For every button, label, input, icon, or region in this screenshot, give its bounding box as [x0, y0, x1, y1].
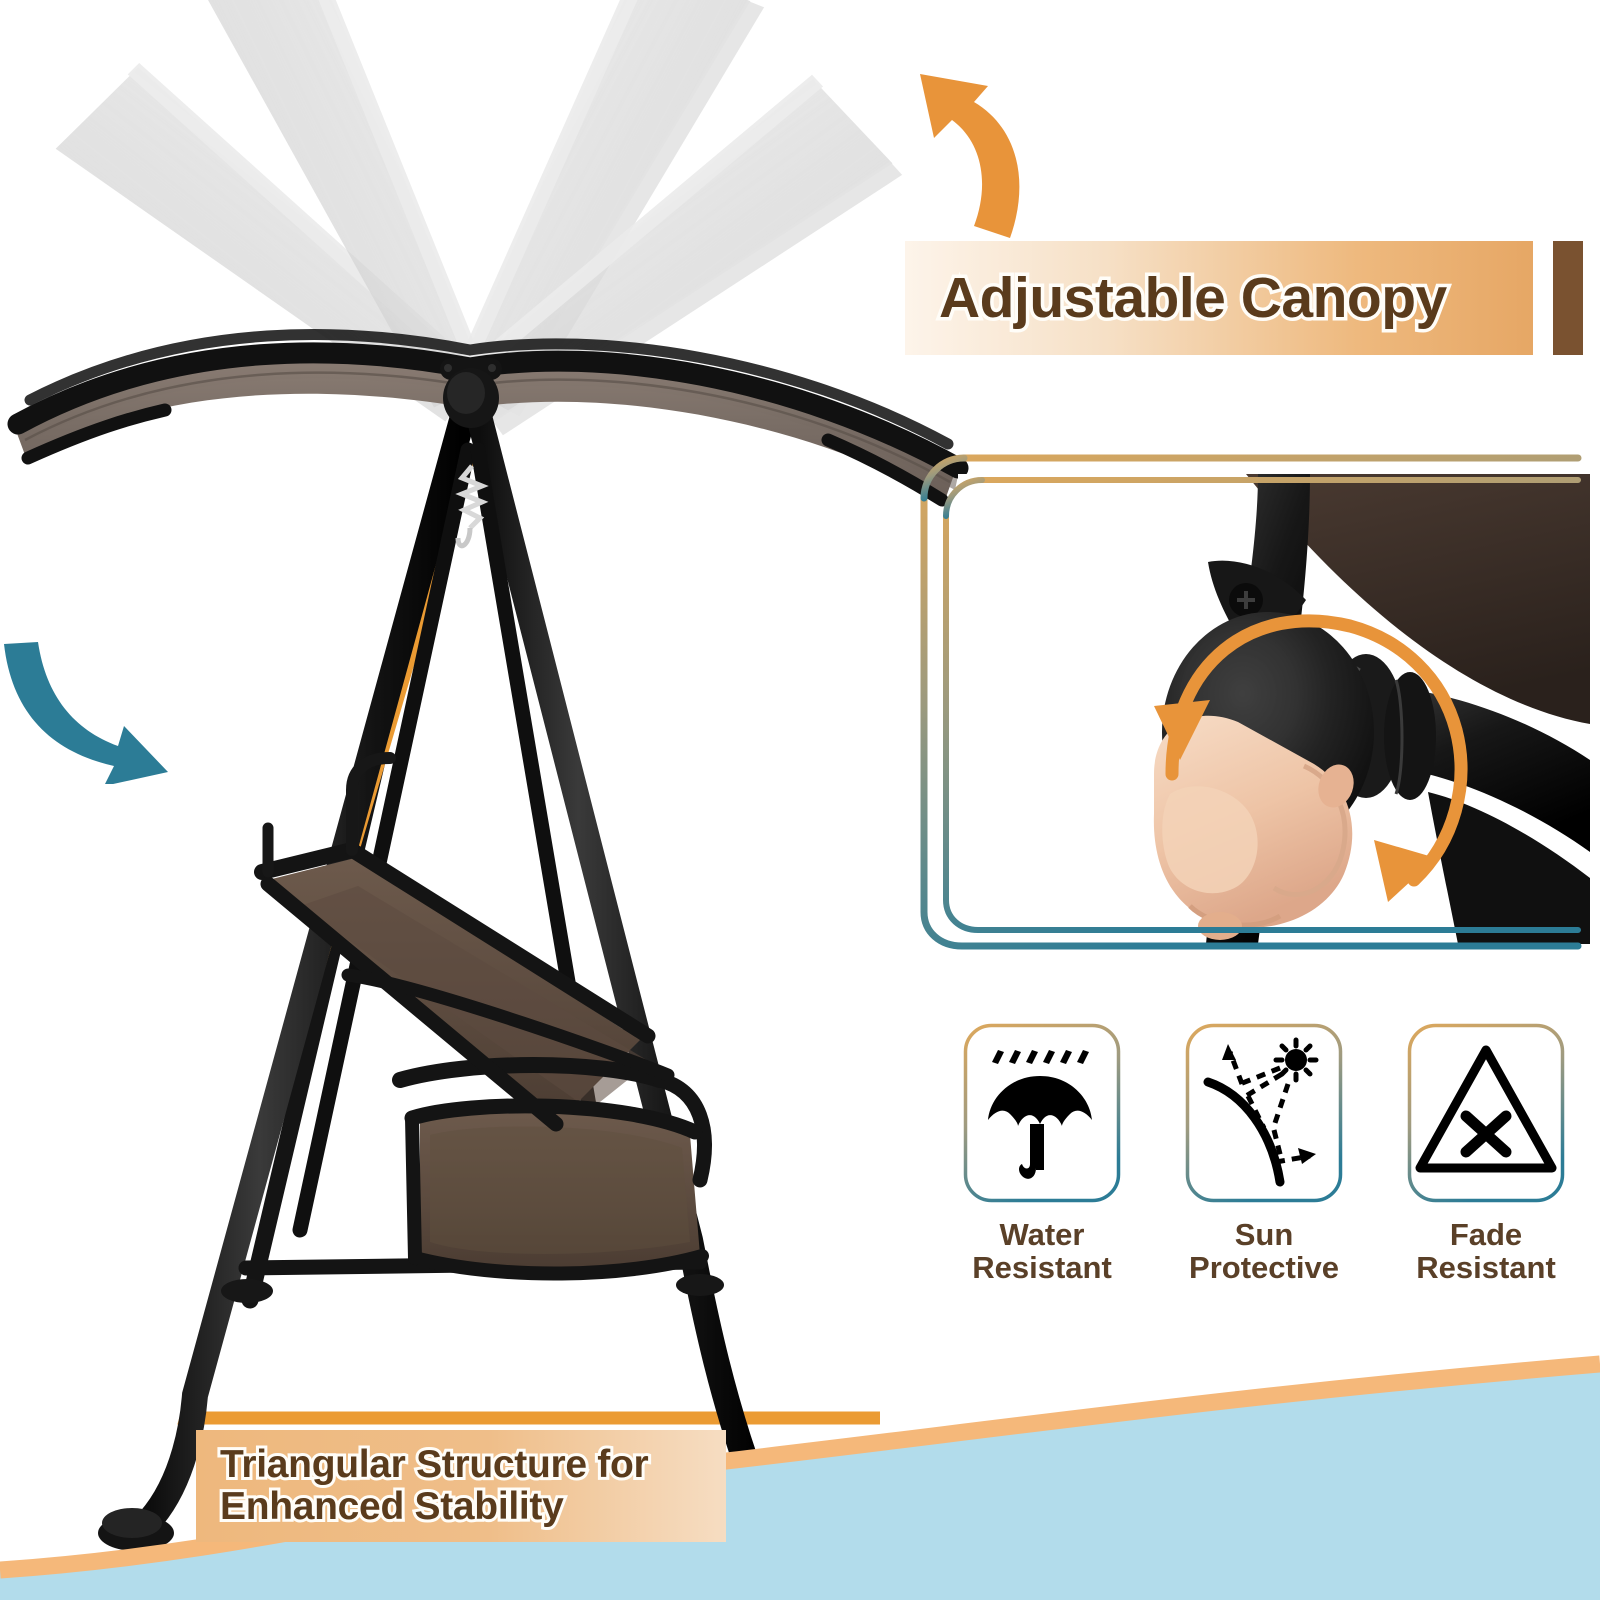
- page-title: Adjustable Canopy: [939, 265, 1447, 331]
- umbrella-rain-icon: [962, 1022, 1122, 1204]
- feature-badges: Water Resistant: [944, 1022, 1584, 1312]
- feature-card: [1184, 1022, 1344, 1204]
- canopy-tilt-down-arrow: [0, 604, 185, 784]
- feature-label: Sun Protective: [1189, 1218, 1339, 1284]
- feature-card: [1406, 1022, 1566, 1204]
- feature-label: Fade Resistant: [1416, 1218, 1556, 1284]
- feature-water-resistant: Water Resistant: [944, 1022, 1140, 1312]
- stability-caption-band: Triangular Structure for Enhanced Stabil…: [196, 1430, 726, 1542]
- knob-detail-inset: [918, 452, 1590, 952]
- stability-caption: Triangular Structure for Enhanced Stabil…: [220, 1444, 726, 1527]
- feature-sun-protective: Sun Protective: [1166, 1022, 1362, 1312]
- no-fade-triangle-icon: [1406, 1022, 1566, 1204]
- headline-accent-bar: [1553, 241, 1583, 355]
- headline-band: Adjustable Canopy: [905, 241, 1533, 355]
- feature-fade-resistant: Fade Resistant: [1388, 1022, 1584, 1312]
- product-feature-infographic: Adjustable Canopy: [0, 0, 1600, 1600]
- sun-deflection-icon: [1184, 1022, 1344, 1204]
- feature-card: [962, 1022, 1122, 1204]
- canopy-tilt-up-arrow: [870, 62, 1050, 252]
- inset-border: [918, 452, 1590, 952]
- feature-label: Water Resistant: [972, 1218, 1112, 1284]
